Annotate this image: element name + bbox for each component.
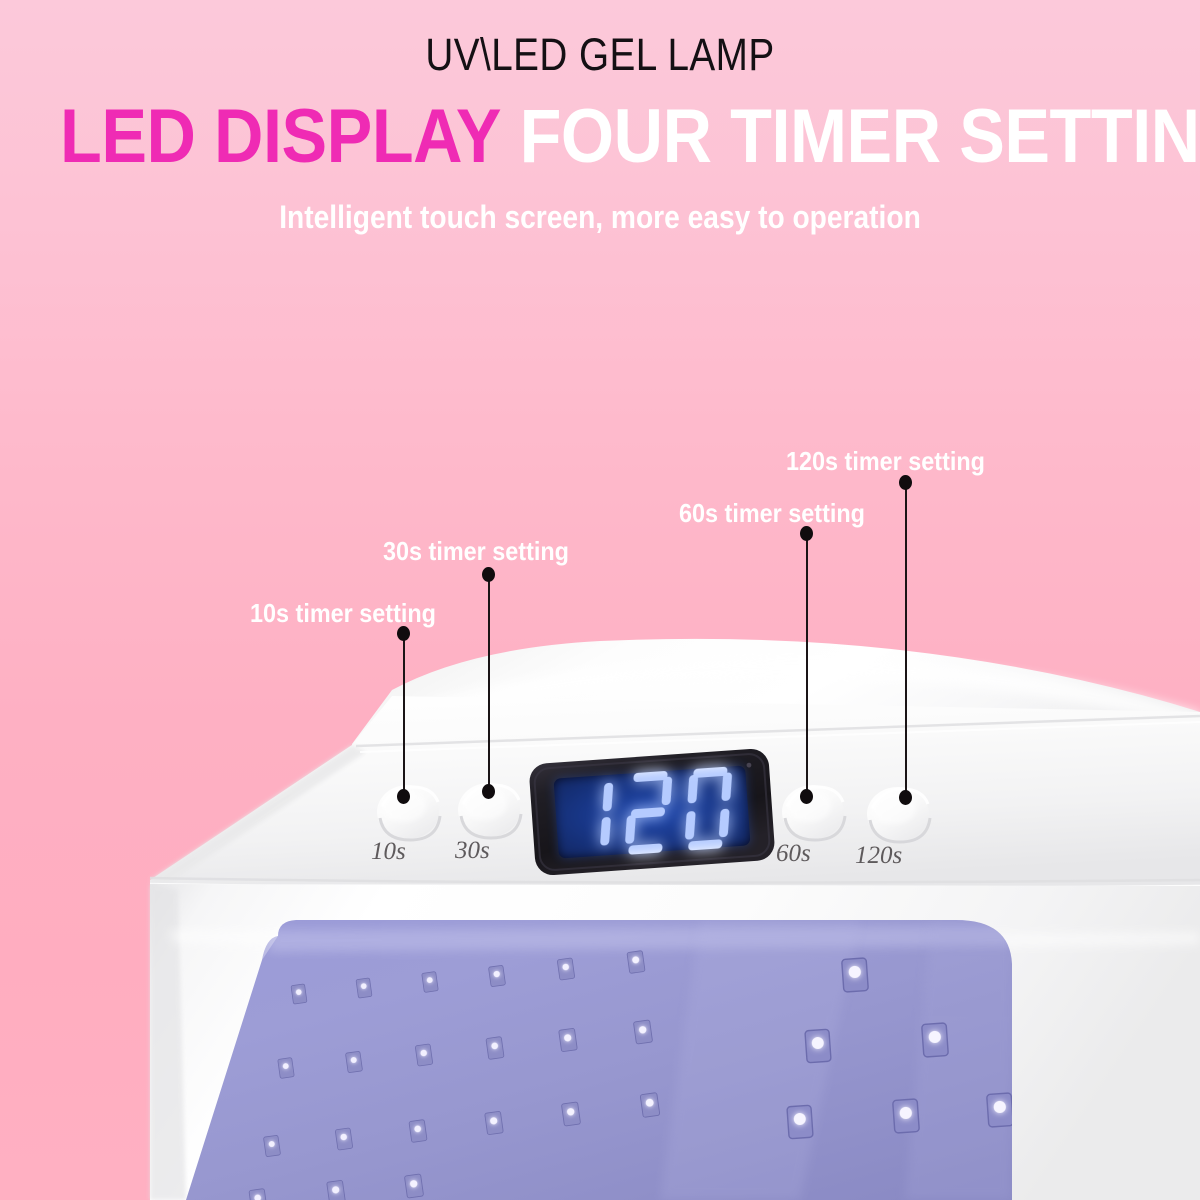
- timer-button-120s[interactable]: [867, 787, 929, 841]
- leader-dot-bottom-60s: [800, 789, 813, 804]
- leader-line-60s: [806, 538, 808, 796]
- uv-led-panel: [186, 920, 1013, 1200]
- page-title-small: UV\LED GEL LAMP: [84, 32, 1116, 77]
- title-pink-segment: LED DISPLAY: [60, 94, 501, 179]
- leader-dot-top-10s: [397, 626, 410, 641]
- callout-label-60s: 60s timer setting: [679, 500, 865, 526]
- callout-label-120s: 120s timer setting: [786, 448, 985, 474]
- leader-line-120s: [905, 487, 907, 797]
- led-display-value: 120: [556, 772, 756, 856]
- callout-label-30s: 30s timer setting: [383, 538, 569, 564]
- leader-dot-top-30s: [482, 567, 495, 582]
- leader-dot-bottom-120s: [899, 790, 912, 805]
- leader-dot-bottom-30s: [482, 784, 495, 799]
- button-label-120s[interactable]: 120s: [855, 842, 902, 870]
- leader-dot-top-60s: [800, 526, 813, 541]
- leader-line-30s: [488, 578, 490, 793]
- leader-line-10s: [403, 638, 405, 798]
- callout-label-10s: 10s timer setting: [250, 600, 436, 626]
- product-banner: UV\LED GEL LAMP LED DISPLAY FOUR TIMER S…: [0, 0, 1200, 1200]
- headline-block: UV\LED GEL LAMP LED DISPLAY FOUR TIMER S…: [0, 0, 1200, 233]
- page-subtitle: Intelligent touch screen, more easy to o…: [72, 201, 1128, 233]
- leader-dot-bottom-10s: [397, 789, 410, 804]
- page-title-large: LED DISPLAY FOUR TIMER SETTING: [60, 99, 1140, 175]
- leader-dot-top-120s: [899, 475, 912, 490]
- button-label-60s[interactable]: 60s: [776, 840, 811, 868]
- button-label-10s[interactable]: 10s: [371, 838, 406, 866]
- timer-button-60s[interactable]: [782, 785, 844, 839]
- button-label-30s[interactable]: 30s: [455, 837, 490, 865]
- title-white-segment: FOUR TIMER SETTING: [520, 94, 1200, 179]
